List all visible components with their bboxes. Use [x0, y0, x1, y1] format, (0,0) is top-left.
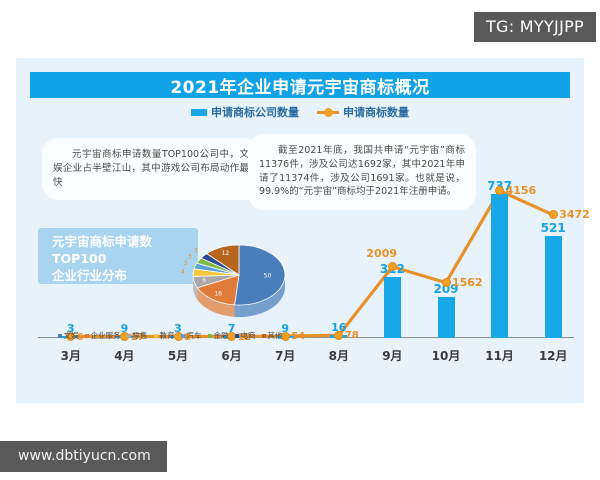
bar-value-12月: 521	[530, 221, 576, 235]
line-value-9月: 2009	[366, 247, 397, 260]
pie-legend-label: 其他	[268, 330, 283, 341]
pie-legend-item-汽车[interactable]: 汽车	[181, 330, 202, 341]
pie-value-其他: 12	[222, 250, 230, 257]
bar-10月	[438, 297, 455, 338]
legend-item-line[interactable]: 申请商标数量	[317, 104, 409, 120]
pie-value-零售: 6	[202, 277, 206, 284]
bar-12月	[545, 236, 562, 338]
pie-value-电商: 3	[194, 247, 198, 254]
pie-legend-swatch-icon	[154, 334, 158, 338]
pie-legend-label: 教育	[160, 330, 175, 341]
line-value-12月: 3472	[559, 208, 590, 221]
pie-legend-item-企业服务[interactable]: 企业服务	[85, 330, 121, 341]
line-point-8月	[334, 331, 343, 340]
pie-legend-item-电商[interactable]: 电商	[235, 330, 256, 341]
legend-line-label: 申请商标数量	[343, 104, 409, 120]
pie-legend-label: 企业服务	[91, 330, 121, 341]
pie-legend-swatch-icon	[181, 334, 185, 338]
line-value-8月: 78	[345, 330, 359, 341]
pie-legend-swatch-icon	[85, 334, 89, 338]
pie-legend-item-文娱[interactable]: 文娱	[58, 330, 79, 341]
pie-chart: 50166433312	[174, 223, 304, 333]
page-title: 2021年企业申请元宇宙商标概况	[30, 72, 570, 98]
x-label-9月: 9月	[369, 347, 415, 364]
infographic-card: 2021年企业申请元宇宙商标概况 申请商标公司数量 申请商标数量 3937916…	[16, 58, 584, 403]
note-left-text: 元宇宙商标申请数量TOP100公司中，文娱企业占半壁江山，其中游戏公司布局动作最…	[53, 148, 249, 189]
pie-legend-label: 零售	[133, 330, 148, 341]
note-left: 元宇宙商标申请数量TOP100公司中，文娱企业占半壁江山，其中游戏公司布局动作最…	[42, 138, 260, 200]
legend-bar-label: 申请商标公司数量	[211, 104, 299, 120]
pie-legend-item-其他[interactable]: 其他	[262, 330, 283, 341]
pie-value-文娱: 50	[264, 272, 272, 279]
pie-value-企业服务: 16	[214, 291, 222, 298]
pie-legend-swatch-icon	[235, 334, 239, 338]
pie-legend-item-零售[interactable]: 零售	[127, 330, 148, 341]
pie-legend-swatch-icon	[262, 334, 266, 338]
bar-9月	[384, 277, 401, 338]
legend-item-bar[interactable]: 申请商标公司数量	[191, 104, 299, 120]
pie-legend: 文娱企业服务零售教育汽车金融电商其他	[36, 330, 304, 341]
pie-value-汽车: 3	[184, 260, 188, 267]
note-right: 截至2021年底，我国共申请“元宇宙”商标11376件，涉及公司达1692家，其…	[248, 134, 476, 210]
note-right-text: 截至2021年底，我国共申请“元宇宙”商标11376件，涉及公司达1692家，其…	[259, 144, 465, 199]
pie-legend-label: 文娱	[64, 330, 79, 341]
x-label-8月: 8月	[316, 347, 362, 364]
watermark: www.dbtiyucn.com	[0, 441, 167, 472]
pie-legend-swatch-icon	[127, 334, 131, 338]
line-value-11月: 4156	[506, 184, 537, 197]
pie-legend-label: 电商	[241, 330, 256, 341]
x-label-4月: 4月	[101, 347, 147, 364]
pie-value-教育: 4	[181, 268, 185, 275]
x-label-5月: 5月	[155, 347, 201, 364]
line-value-10月: 1562	[452, 276, 483, 289]
pie-legend-item-教育[interactable]: 教育	[154, 330, 175, 341]
bar-11月	[491, 194, 508, 338]
tg-badge: TG: MYYJJPP	[474, 12, 596, 42]
pie-legend-swatch-icon	[208, 334, 212, 338]
pie-legend-label: 金融	[214, 330, 229, 341]
x-label-10月: 10月	[423, 347, 469, 364]
x-label-11月: 11月	[477, 347, 523, 364]
chart-legend: 申请商标公司数量 申请商标数量	[16, 104, 584, 120]
x-label-12月: 12月	[530, 347, 576, 364]
legend-line-swatch-icon	[317, 107, 339, 117]
pie-legend-item-金融[interactable]: 金融	[208, 330, 229, 341]
pie-value-金融: 3	[188, 253, 192, 260]
x-label-7月: 7月	[262, 347, 308, 364]
x-label-6月: 6月	[209, 347, 255, 364]
legend-bar-swatch-icon	[191, 109, 207, 116]
x-label-3月: 3月	[48, 347, 94, 364]
pie-legend-swatch-icon	[58, 334, 62, 338]
pie-legend-label: 汽车	[187, 330, 202, 341]
pie-chart-svg: 50166433312	[174, 223, 304, 333]
line-point-10月	[442, 278, 451, 287]
